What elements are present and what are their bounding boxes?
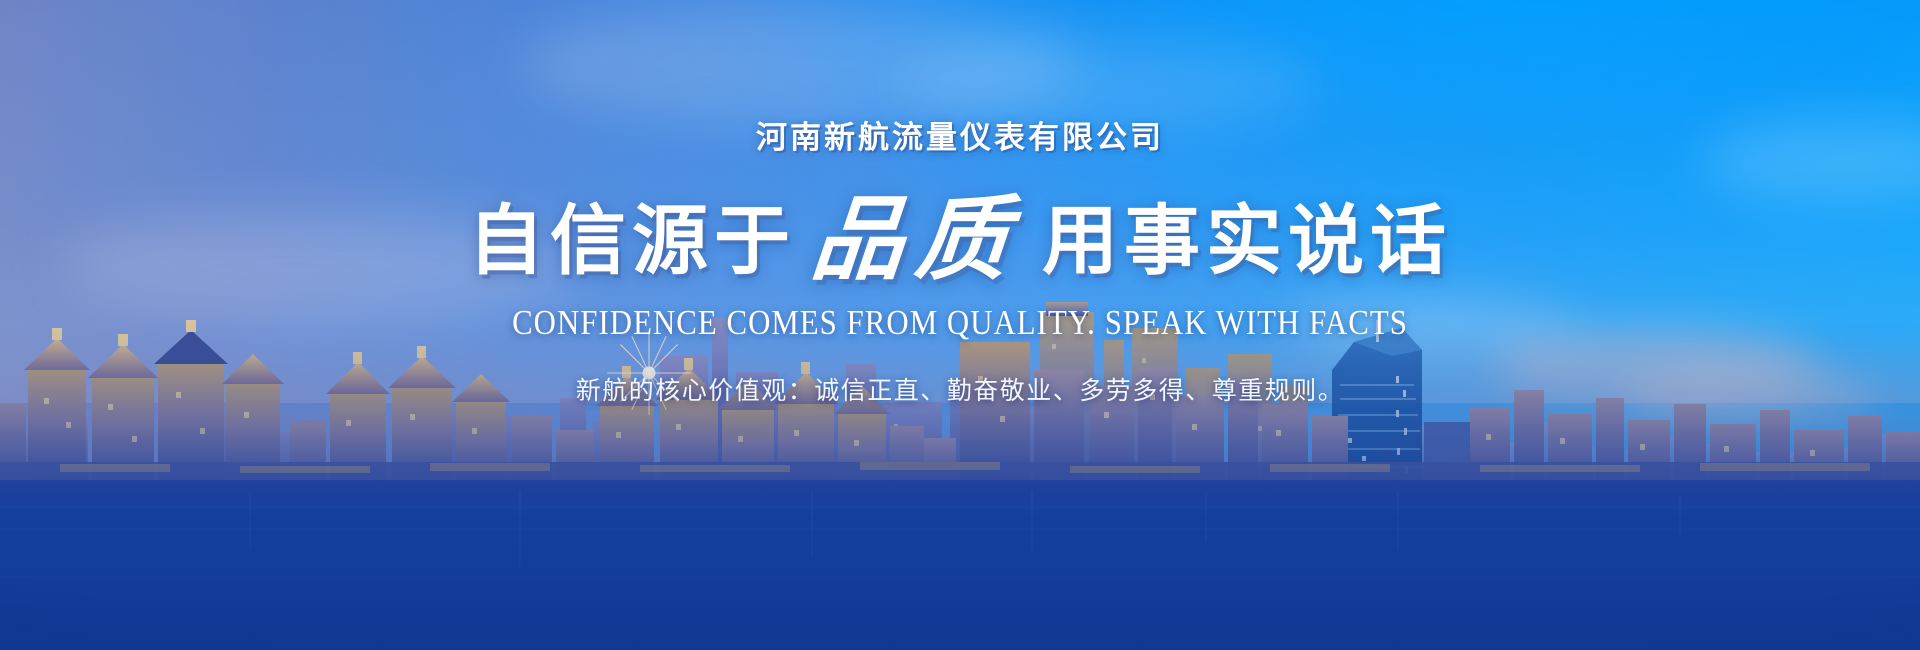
banner-content: 河南新航流量仪表有限公司 自信源于 品质 用事实说话 CONFIDENCE CO… <box>0 0 1920 650</box>
hero-banner: 河南新航流量仪表有限公司 自信源于 品质 用事实说话 CONFIDENCE CO… <box>0 0 1920 650</box>
headline-emphasis: 品质 <box>792 193 1040 285</box>
subtitle-english: CONFIDENCE COMES FROM QUALITY. SPEAK WIT… <box>512 303 1408 343</box>
headline-part-1: 自信源于 <box>468 203 796 279</box>
tagline-chinese: 新航的核心价值观：诚信正直、勤奋敬业、多劳多得、尊重规则。 <box>576 371 1345 407</box>
company-name: 河南新航流量仪表有限公司 <box>756 122 1164 153</box>
headline-part-2: 用事实说话 <box>1042 203 1452 279</box>
headline: 自信源于 品质 用事实说话 <box>468 187 1452 279</box>
